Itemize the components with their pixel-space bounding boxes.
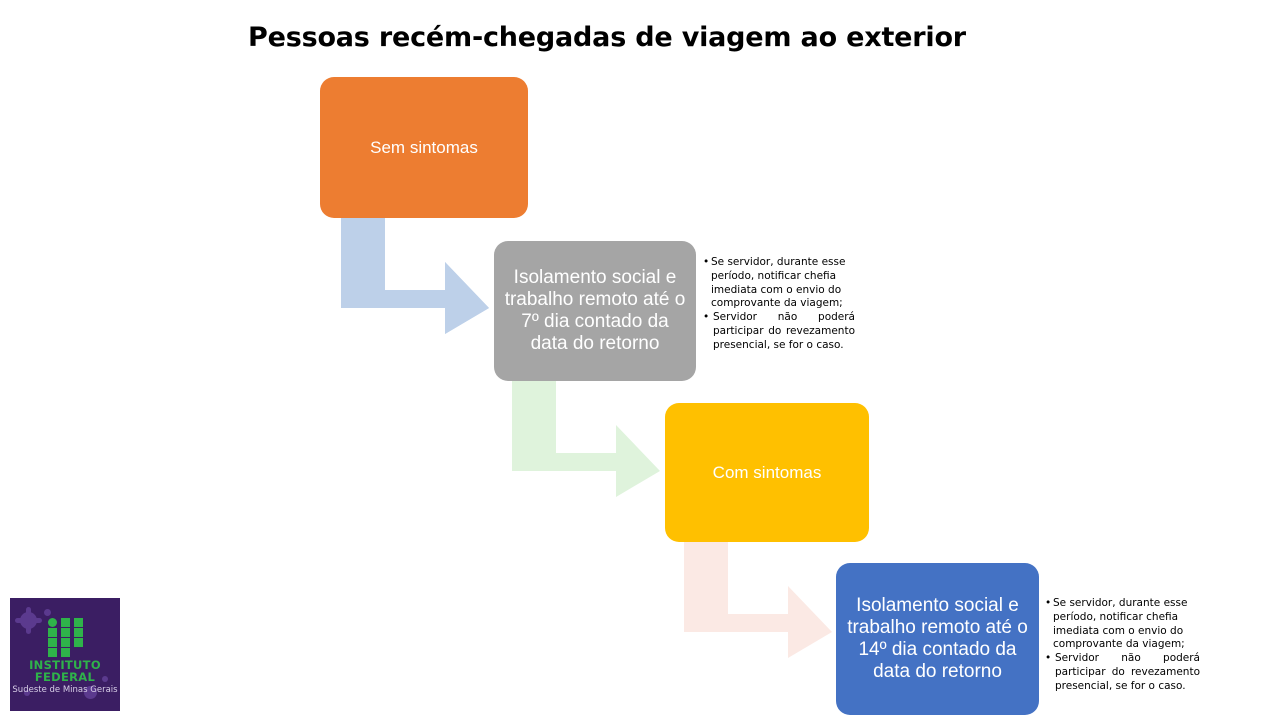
note-block-isolamento-7-dias: Se servidor, durante esse período, notif… — [703, 256, 855, 352]
logo-line-3: Sudeste de Minas Gerais — [10, 685, 120, 695]
flow-box-isolamento-7-dias-label: Isolamento social e trabalho remoto até … — [502, 267, 688, 355]
flow-box-sem-sintomas[interactable]: Sem sintomas — [320, 77, 528, 218]
if-mark-icon — [48, 618, 84, 658]
slide-canvas: Pessoas recém-chegadas de viagem ao exte… — [0, 0, 1280, 720]
flow-box-isolamento-7-dias[interactable]: Isolamento social e trabalho remoto até … — [494, 241, 696, 381]
flow-box-com-sintomas[interactable]: Com sintomas — [665, 403, 869, 542]
note-bullet: Se servidor, durante esse período, notif… — [703, 256, 855, 311]
note-bullet: Servidor não poderá participar do reveza… — [1045, 652, 1200, 693]
note-block-isolamento-14-dias: Se servidor, durante esse período, notif… — [1045, 597, 1200, 693]
flow-box-isolamento-14-dias-label: Isolamento social e trabalho remoto até … — [844, 595, 1031, 683]
flow-box-sem-sintomas-label: Sem sintomas — [320, 138, 528, 158]
virus-icon — [44, 609, 51, 616]
note-bullet: Servidor não poderá participar do reveza… — [703, 311, 855, 352]
flow-box-com-sintomas-label: Com sintomas — [665, 463, 869, 483]
arrow-com-sintomas-to-isolamento-14 — [684, 540, 832, 658]
institution-logo: INSTITUTO FEDERAL Sudeste de Minas Gerai… — [10, 598, 120, 711]
arrow-isolamento-7-to-com-sintomas — [512, 379, 660, 497]
logo-text: INSTITUTO FEDERAL Sudeste de Minas Gerai… — [10, 659, 120, 695]
page-title: Pessoas recém-chegadas de viagem ao exte… — [248, 22, 966, 53]
note-bullet: Se servidor, durante esse período, notif… — [1045, 597, 1200, 652]
logo-line-2: FEDERAL — [10, 671, 120, 683]
arrow-sem-sintomas-to-isolamento-7 — [341, 216, 489, 334]
virus-icon — [20, 612, 37, 629]
flow-box-isolamento-14-dias[interactable]: Isolamento social e trabalho remoto até … — [836, 563, 1039, 715]
